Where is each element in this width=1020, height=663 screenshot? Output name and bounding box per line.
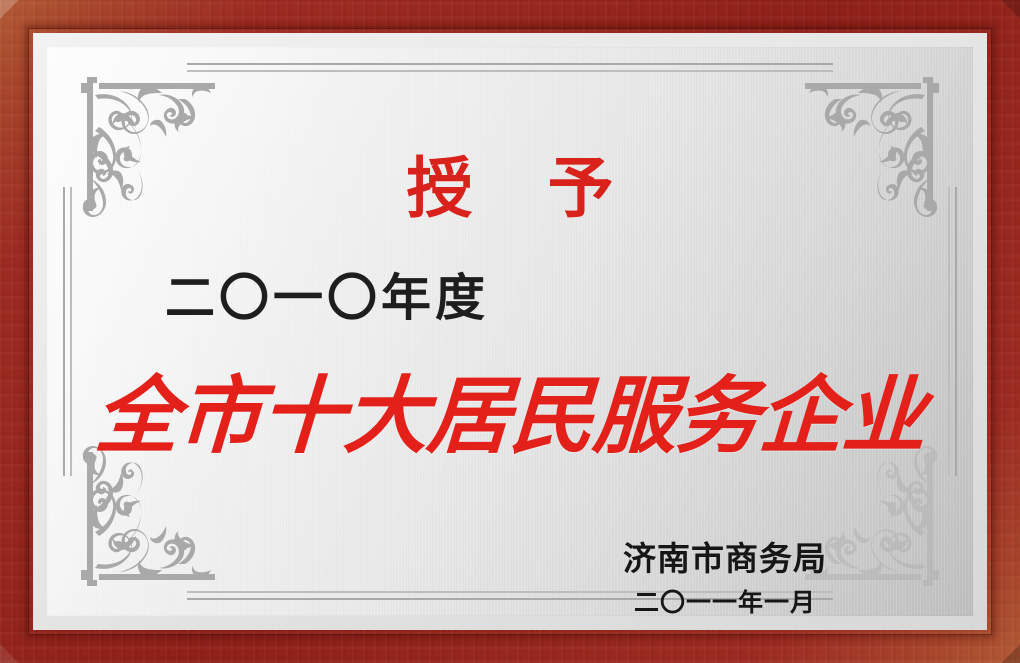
issuer-block: 济南市商务局 二〇一一年一月 <box>595 541 855 616</box>
award-year-line: 二〇一〇年度 <box>165 273 489 323</box>
plaque-mat: 授 予 二〇一〇年度 全市十大居民服务企业 济南市商务局 二〇一一年一月 <box>33 33 987 630</box>
award-main-title: 全市十大居民服务企业 <box>47 369 973 463</box>
issuer-name: 济南市商务局 <box>595 541 855 577</box>
plaque-text-content: 授 予 二〇一〇年度 全市十大居民服务企业 济南市商务局 二〇一一年一月 <box>47 47 973 616</box>
award-plaque: 授 予 二〇一〇年度 全市十大居民服务企业 济南市商务局 二〇一一年一月 <box>0 0 1020 663</box>
award-word: 授 予 <box>47 155 973 221</box>
issuer-date: 二〇一一年一月 <box>595 589 855 616</box>
plaque-inner-panel: 授 予 二〇一〇年度 全市十大居民服务企业 济南市商务局 二〇一一年一月 <box>47 47 973 616</box>
